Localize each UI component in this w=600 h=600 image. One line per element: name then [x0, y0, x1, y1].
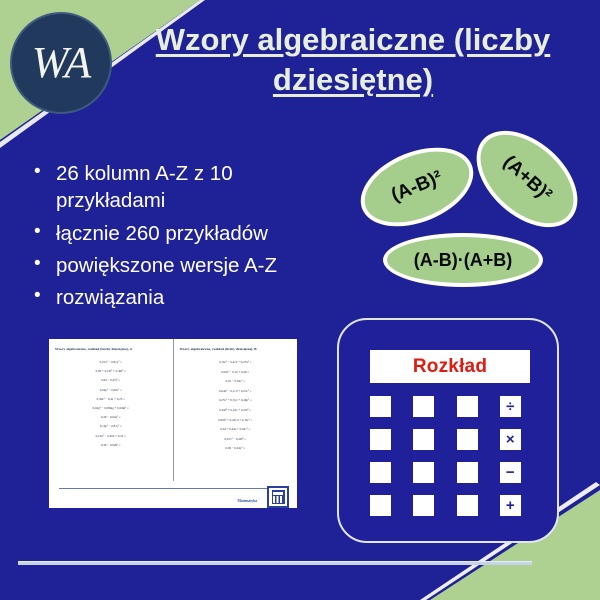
calculator-display: Rozkład	[370, 350, 530, 383]
calculator-icon	[267, 486, 289, 508]
formula-text: (A+B)²	[498, 152, 555, 207]
worksheet-footer-rule	[59, 488, 287, 489]
worksheet-column-b: Wzory algebraiczne, rozkład (liczby dzie…	[173, 339, 298, 481]
worksheet-line: 0,09 + 0,16f² + 0,49f² =	[55, 369, 167, 373]
wa-logo: WA	[10, 12, 112, 114]
calculator-key-multiply[interactable]: ×	[500, 429, 521, 450]
list-item: rozwiązania	[30, 284, 340, 311]
list-item: powiększone wersje A-Z	[30, 252, 340, 279]
worksheet-line: 0,16p² − 0,81c² =	[55, 424, 167, 428]
worksheet-column-a: Wzory algebraiczne, rozkład (liczby dzie…	[49, 339, 173, 481]
formula-badge-difference-of-squares: (A-B)·(A+B)	[383, 233, 543, 287]
calculator-graphic: Rozkład ÷ × − +	[337, 318, 559, 543]
calculator-key-blank[interactable]	[413, 396, 434, 417]
calculator-key-plus[interactable]: +	[500, 495, 521, 516]
feature-bullet-list: 26 kolumn A-Z z 10 przykładami łącznie 2…	[30, 160, 340, 316]
calculator-key-blank[interactable]	[457, 429, 478, 450]
formula-badge-a-plus-b-squared: (A+B)²	[458, 112, 595, 246]
worksheet-line: 0,04g² − 0,08mg + 0,04m² =	[55, 406, 167, 410]
bottom-divider-line	[18, 561, 532, 565]
calculator-key-blank[interactable]	[370, 396, 391, 417]
worksheet-line: 0,04d² − 0,1cd + 0,25c² =	[180, 389, 292, 393]
calculator-key-blank[interactable]	[370, 495, 391, 516]
worksheet-footer-label: Matematyka	[237, 499, 257, 503]
worksheet-columns: Wzory algebraiczne, rozkład (liczby dzie…	[49, 339, 297, 481]
calculator-key-blank[interactable]	[457, 462, 478, 483]
worksheet-line: 0,49 − 0,04q² =	[55, 415, 167, 419]
worksheet-line: 0,25v² − 0,49f² =	[180, 437, 292, 441]
worksheet-line: 0,64 + 0,4de + 0,04c² =	[180, 427, 292, 431]
calculator-key-blank[interactable]	[457, 396, 478, 417]
worksheet-preview[interactable]: Wzory algebraiczne, rozkład (liczby dzie…	[46, 336, 300, 518]
worksheet-line: 0,16n² − 0,40n + 0,16 =	[55, 434, 167, 438]
worksheet-line: 0,16c² − 0,4cx + 0,25x² =	[180, 360, 292, 364]
calculator-key-blank[interactable]	[413, 462, 434, 483]
worksheet-heading: Wzory algebraiczne, rozkład (liczby dzie…	[55, 347, 167, 351]
calculator-key-blank[interactable]	[413, 429, 434, 450]
formula-badge-a-minus-b-squared: (A-B)²	[349, 132, 485, 241]
calculator-key-blank[interactable]	[370, 429, 391, 450]
list-item: 26 kolumn A-Z z 10 przykładami	[30, 160, 340, 215]
formula-text: (A-B)²	[388, 167, 445, 207]
worksheet-line: 0,25v² + 0,7pv + 0,49p² =	[180, 398, 292, 402]
worksheet-line: 0,25 − 0,04c² =	[180, 379, 292, 383]
calculator-key-minus[interactable]: −	[500, 462, 521, 483]
calculator-key-blank[interactable]	[413, 495, 434, 516]
worksheet-bottom-strip	[49, 508, 297, 515]
calculator-icon-glyph	[272, 490, 285, 504]
calculator-display-text: Rozkład	[413, 356, 487, 378]
worksheet-line: 0,09t² − 0,16 + 0,49 =	[180, 370, 292, 374]
worksheet-line: 0,09 − 0,04y² =	[180, 446, 292, 450]
calculator-key-divide[interactable]: ÷	[500, 396, 521, 417]
worksheet-heading: Wzory algebraiczne, rozkład (liczby dzie…	[180, 347, 292, 351]
worksheet-line: 0,04p² − 0,09c² =	[55, 388, 167, 392]
slide-canvas: WA Wzory algebraiczne (liczby dziesiętne…	[0, 0, 600, 600]
calculator-key-blank[interactable]	[370, 462, 391, 483]
wa-logo-text: WA	[32, 41, 90, 85]
formula-text: (A-B)·(A+B)	[414, 250, 512, 271]
calculator-key-blank[interactable]	[457, 495, 478, 516]
list-item: łącznie 260 przykładów	[30, 220, 340, 247]
calculator-keypad: ÷ × − +	[370, 396, 530, 516]
worksheet-line: 0,09d² + 0,24vd + 0,16c² =	[180, 418, 292, 422]
page-title: Wzory algebraiczne (liczby dziesiętne)	[118, 20, 588, 99]
worksheet-line: 0,25x² − 0,81y² =	[55, 360, 167, 364]
worksheet-line: 0,36z² − 0,4z + 0,25 =	[55, 397, 167, 401]
worksheet-line: 0,64f² + 0,24v + 0,25f² =	[180, 408, 292, 412]
worksheet-line: 0,64 − 0,25t² =	[55, 378, 167, 382]
worksheet-line: 0,36 − 0,049² =	[55, 443, 167, 447]
